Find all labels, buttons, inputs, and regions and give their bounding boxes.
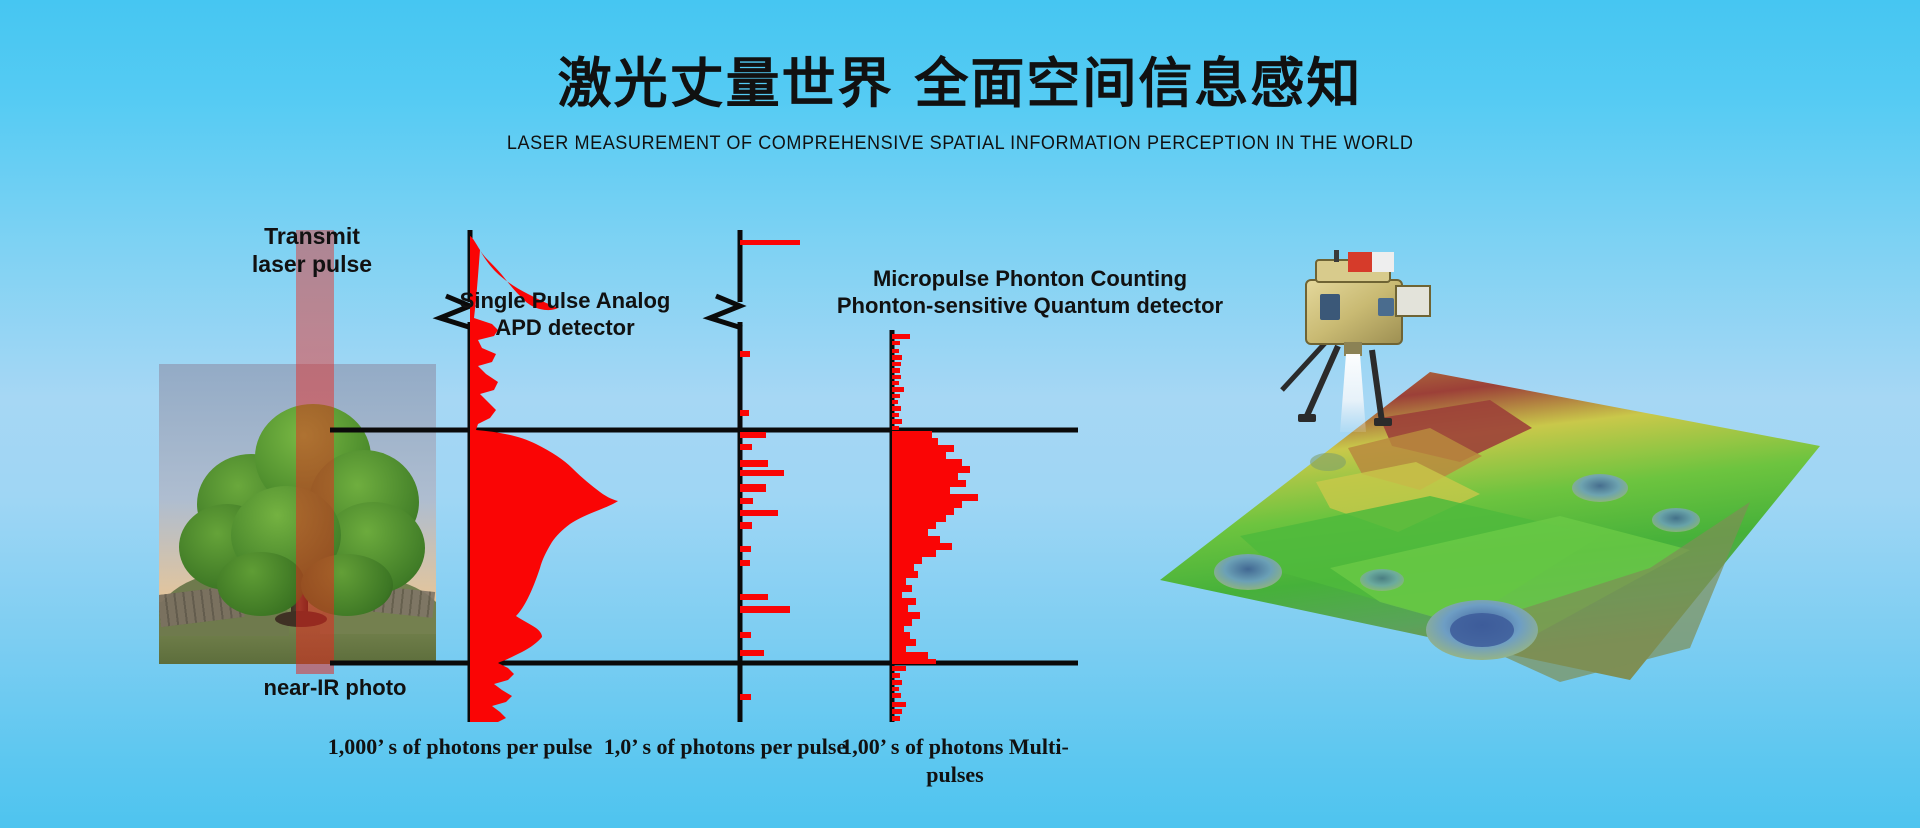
crater	[1450, 613, 1514, 647]
lander-footpad	[1298, 414, 1316, 422]
lander-white-panel	[1372, 252, 1394, 272]
lunar-lander-scene	[1130, 250, 1920, 750]
crater	[1310, 453, 1346, 471]
lidar-waveform-figure: Transmit laser pulse Single Pulse Analog…	[0, 0, 1150, 828]
crater	[1360, 569, 1404, 591]
panel-low-photon-count	[710, 230, 800, 722]
label-transmit-laser-pulse: Transmit laser pulse	[212, 222, 412, 278]
label-near-ir-photo: near-IR photo	[210, 675, 460, 702]
caption-photons-per-pulse-2: 1,0’ s of photons per pulse	[600, 733, 850, 761]
crater	[1652, 508, 1700, 532]
lander-antenna-mast	[1334, 250, 1339, 262]
lander-instrument-box	[1378, 298, 1394, 316]
lander-instrument-box	[1320, 294, 1340, 320]
lander-solar-panel	[1396, 286, 1430, 316]
crater	[1214, 554, 1282, 590]
lander-leg	[1372, 350, 1382, 422]
caption-photons-per-pulse-1: 1,000’ s of photons per pulse	[320, 733, 600, 761]
lander-footpad	[1374, 418, 1392, 426]
waveform-plot-svg	[0, 0, 1150, 828]
dem-terrain	[1160, 372, 1820, 682]
caption-photons-multi-pulses: 1,00’ s of photons Multi-pulses	[830, 733, 1080, 788]
crater	[1572, 474, 1628, 502]
lander-thruster	[1344, 342, 1362, 356]
descent-engine-plume	[1340, 354, 1366, 432]
lander-red-panel	[1348, 252, 1372, 272]
photon-bars	[740, 240, 800, 700]
axis-break-zigzag	[710, 296, 742, 328]
label-single-pulse-analog-apd: Single Pulse Analog APD detector	[420, 288, 710, 342]
